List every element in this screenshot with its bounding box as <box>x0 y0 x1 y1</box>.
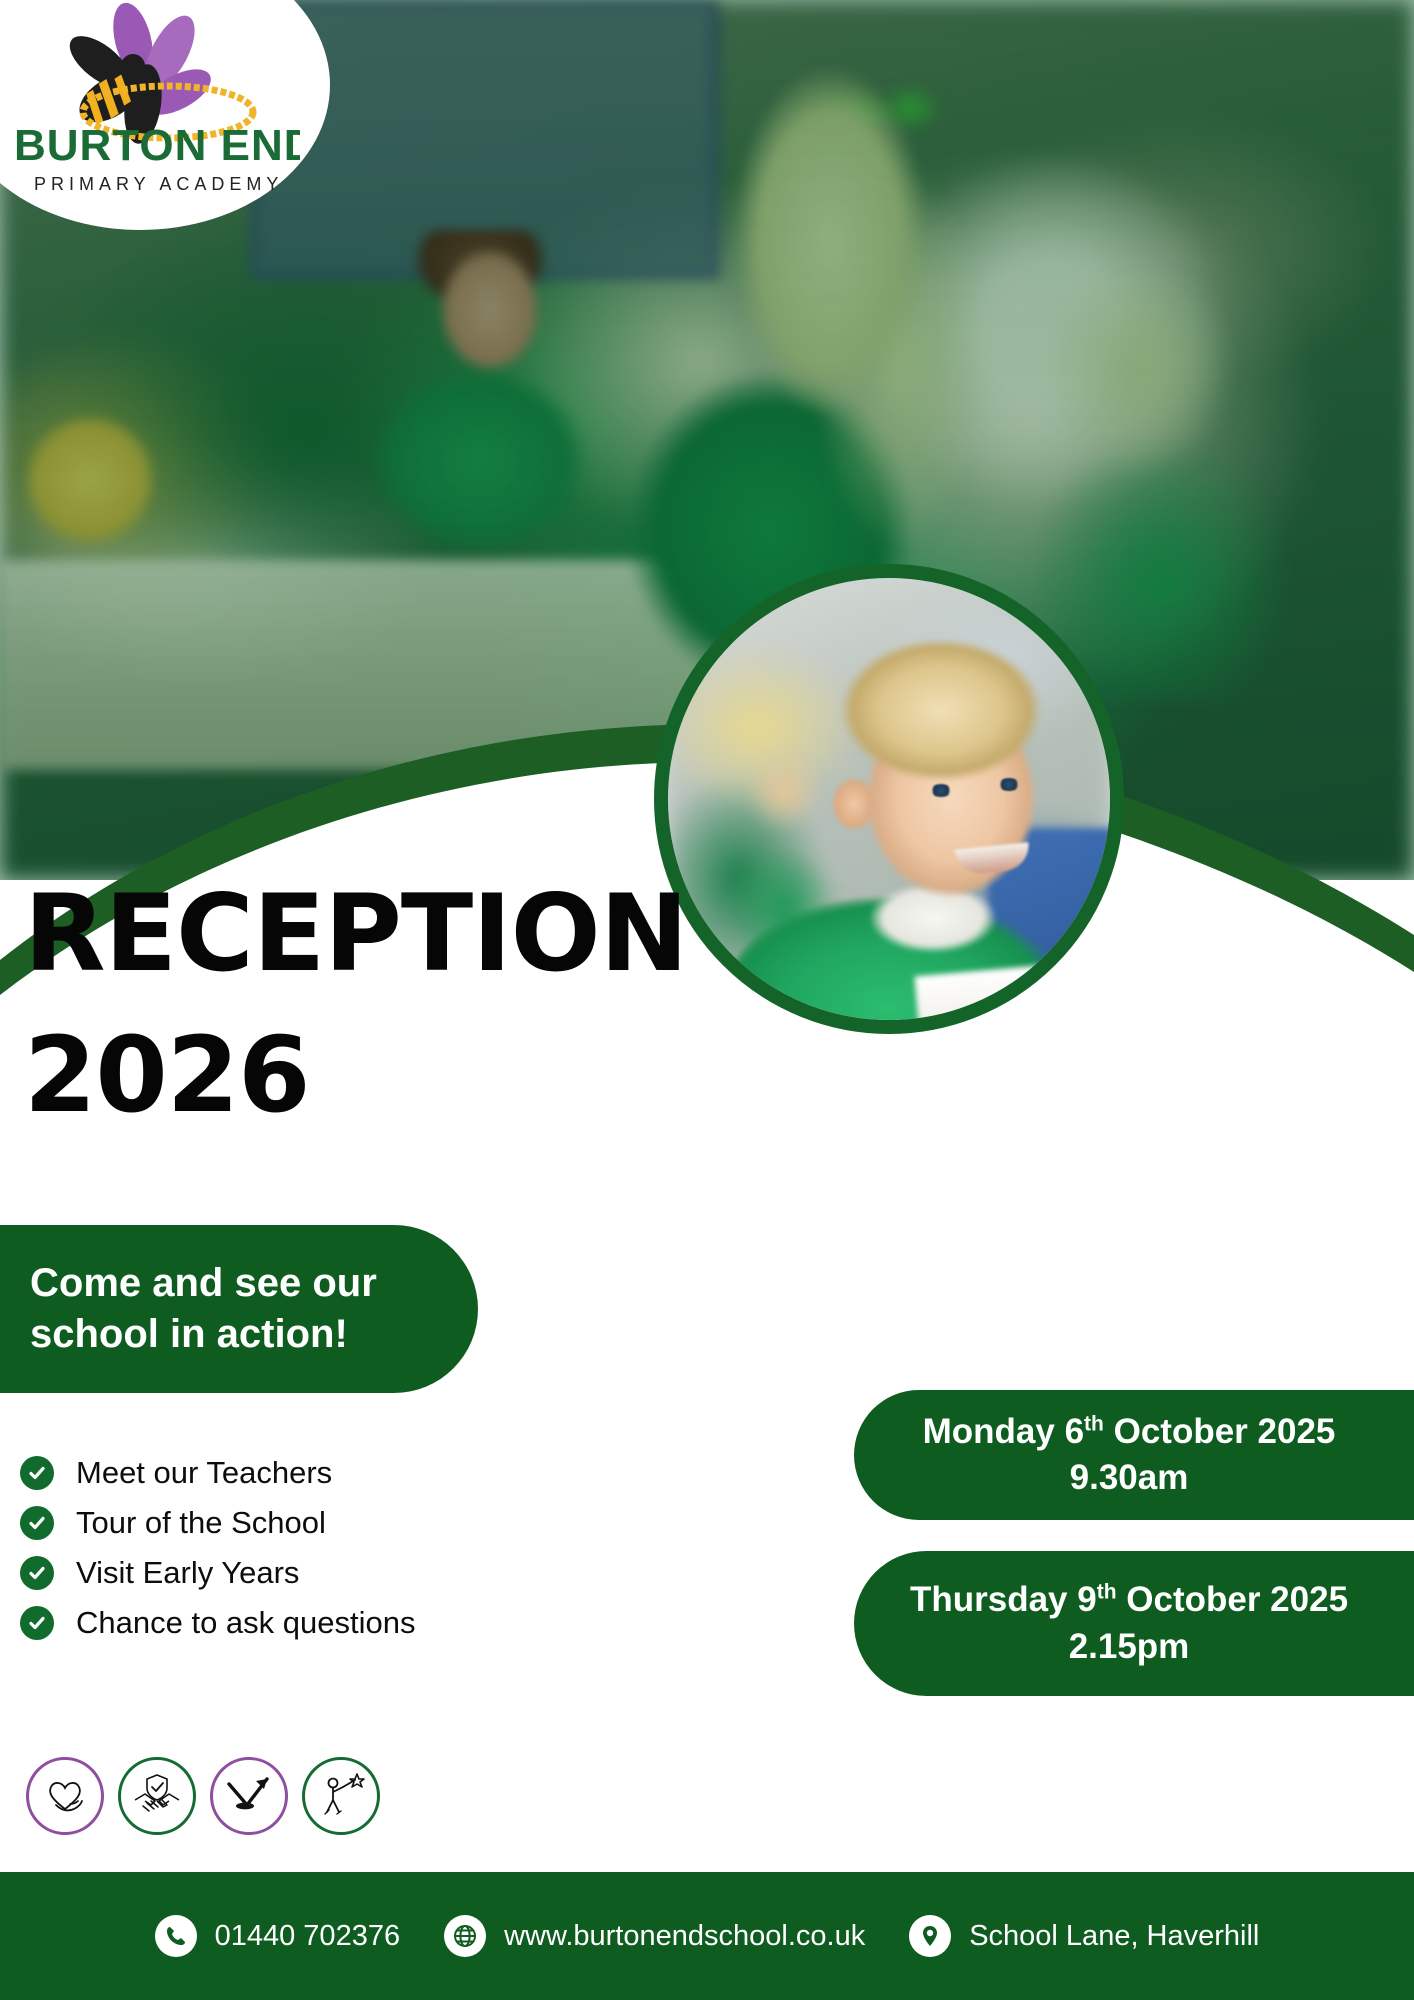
footer-phone-text: 01440 702376 <box>215 1920 400 1953</box>
list-item-label: Meet our Teachers <box>76 1455 332 1491</box>
arrow-growth-icon <box>223 1770 275 1822</box>
value-icon-person-star <box>302 1757 380 1835</box>
value-icons <box>26 1757 380 1835</box>
value-icon-arrow-growth <box>210 1757 288 1835</box>
list-item: Chance to ask questions <box>20 1605 540 1641</box>
boy-eye-left <box>930 784 952 797</box>
date-ordinal-2: th <box>1097 1581 1117 1604</box>
date-text-1: Monday 6th October 2025 <box>923 1412 1356 1452</box>
date-ordinal-1: th <box>1084 1412 1104 1435</box>
person-star-icon <box>315 1770 367 1822</box>
footer-address[interactable]: School Lane, Haverhill <box>909 1915 1259 1957</box>
list-item: Tour of the School <box>20 1505 540 1541</box>
footer-phone[interactable]: 01440 702376 <box>155 1915 400 1957</box>
heart-in-hand-icon <box>40 1771 90 1821</box>
date-time-2: 2.15pm <box>1069 1627 1210 1667</box>
globe-icon <box>444 1915 486 1957</box>
list-item-label: Tour of the School <box>76 1505 326 1541</box>
footer-website-text: www.burtonendschool.co.uk <box>504 1920 865 1953</box>
cta-text: Come and see our school in action! <box>30 1258 390 1360</box>
checklist: Meet our Teachers Tour of the School Vis… <box>20 1455 540 1655</box>
check-circle-icon <box>20 1456 54 1490</box>
title-line-2: 2026 <box>24 1022 664 1128</box>
circle-photo <box>654 564 1124 1034</box>
school-logo: BURTON END PRIMARY ACADEMY <box>0 0 300 215</box>
phone-icon <box>155 1915 197 1957</box>
bee-flower-logo-icon: BURTON END PRIMARY ACADEMY <box>0 0 300 215</box>
footer-address-text: School Lane, Haverhill <box>969 1920 1259 1953</box>
date-rest-1: October 2025 <box>1104 1412 1336 1451</box>
title-line-1: RECEPTION <box>24 880 664 988</box>
date-time-1: 9.30am <box>1070 1458 1209 1498</box>
date-day-1: Monday 6 <box>923 1412 1084 1451</box>
location-pin-icon <box>909 1915 951 1957</box>
svg-text:PRIMARY ACADEMY: PRIMARY ACADEMY <box>34 174 283 194</box>
boy-hair <box>836 630 1046 780</box>
value-icon-heart-in-hand <box>26 1757 104 1835</box>
date-banner-1: Monday 6th October 2025 9.30am <box>854 1390 1414 1520</box>
value-icon-handshake-shield <box>118 1757 196 1835</box>
list-item: Meet our Teachers <box>20 1455 540 1491</box>
footer-website[interactable]: www.burtonendschool.co.uk <box>444 1915 865 1957</box>
svg-text:BURTON END: BURTON END <box>14 121 300 170</box>
date-banner-2: Thursday 9th October 2025 2.15pm <box>854 1551 1414 1696</box>
check-circle-icon <box>20 1506 54 1540</box>
date-text-2: Thursday 9th October 2025 <box>910 1580 1368 1620</box>
list-item: Visit Early Years <box>20 1555 540 1591</box>
list-item-label: Visit Early Years <box>76 1555 299 1591</box>
handshake-shield-icon <box>131 1770 183 1822</box>
list-item-label: Chance to ask questions <box>76 1605 416 1641</box>
date-rest-2: October 2025 <box>1117 1580 1349 1619</box>
cta-banner: Come and see our school in action! <box>0 1225 478 1393</box>
date-day-2: Thursday 9 <box>910 1580 1097 1619</box>
poster: BURTON END PRIMARY ACADEMY RECEPTION 202… <box>0 0 1414 2000</box>
boy-eye-right <box>998 778 1020 791</box>
check-circle-icon <box>20 1606 54 1640</box>
poster-title: RECEPTION 2026 <box>24 880 664 1128</box>
footer-contact-bar: 01440 702376 www.burtonendschool.co.uk S… <box>0 1872 1414 2000</box>
check-circle-icon <box>20 1556 54 1590</box>
